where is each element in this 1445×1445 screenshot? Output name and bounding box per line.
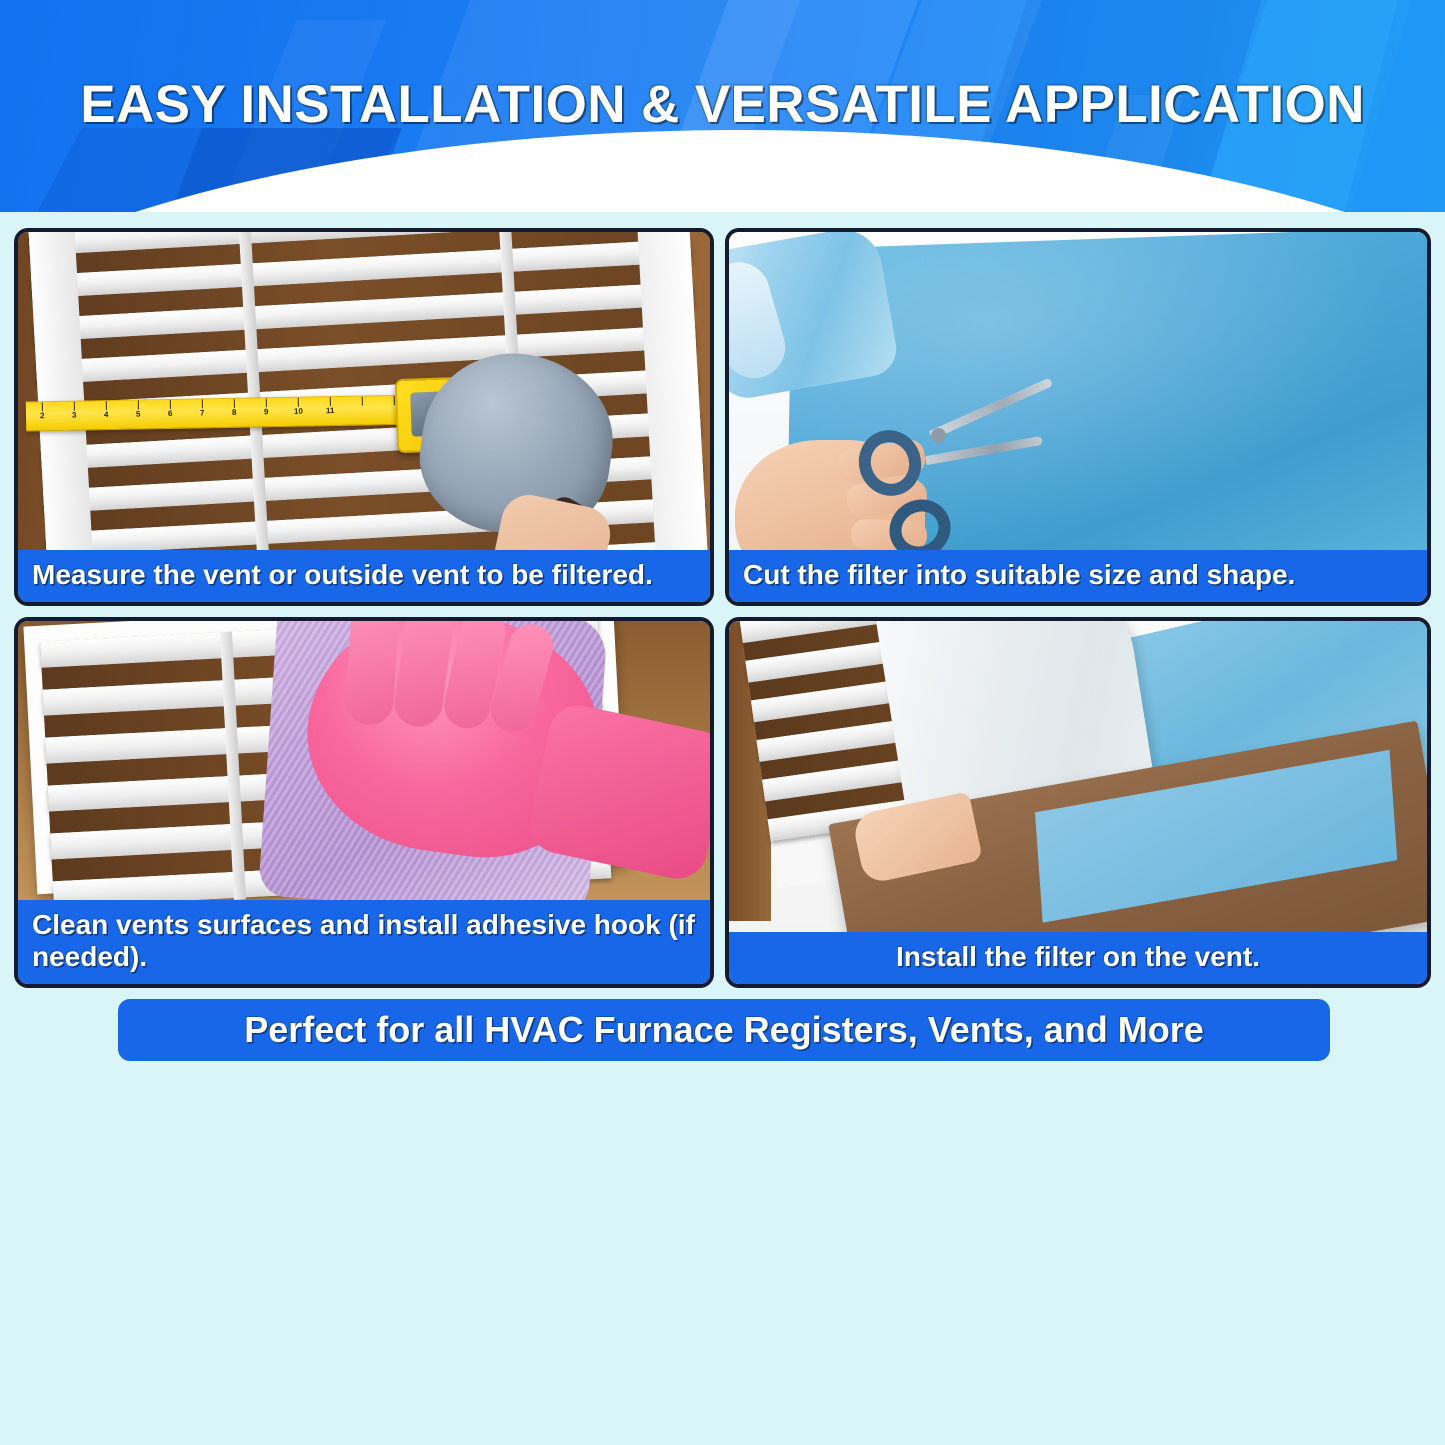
step-photo-install — [729, 621, 1427, 984]
product-row: 1. Floor Register Vents 2. Ceiling Vent — [0, 1080, 1445, 1330]
infographic-page: EASY INSTALLATION & VERSATILE APPLICATIO… — [0, 0, 1445, 1445]
step-photo-cut — [729, 232, 1427, 602]
header-banner: EASY INSTALLATION & VERSATILE APPLICATIO… — [0, 0, 1445, 212]
scissors-pivot — [931, 428, 946, 443]
step-caption-install: Install the filter on the vent. — [729, 932, 1427, 984]
step-card-clean: Clean vents surfaces and install adhesiv… — [14, 617, 714, 988]
step-caption-cut: Cut the filter into suitable size and sh… — [729, 550, 1427, 602]
step-card-cut: Cut the filter into suitable size and sh… — [725, 228, 1431, 606]
step-caption-clean: Clean vents surfaces and install adhesiv… — [18, 900, 710, 984]
step-card-install: Install the filter on the vent. — [725, 617, 1431, 988]
step-card-measure: 2345 6789 1011 Measure the vent or outsi… — [14, 228, 714, 606]
page-title: EASY INSTALLATION & VERSATILE APPLICATIO… — [0, 74, 1445, 135]
compatibility-banner: Perfect for all HVAC Furnace Registers, … — [118, 999, 1330, 1061]
step-photo-measure: 2345 6789 1011 — [18, 232, 710, 602]
step-caption-measure: Measure the vent or outside vent to be f… — [18, 550, 710, 602]
steps-grid: 2345 6789 1011 Measure the vent or outsi… — [14, 228, 1431, 988]
